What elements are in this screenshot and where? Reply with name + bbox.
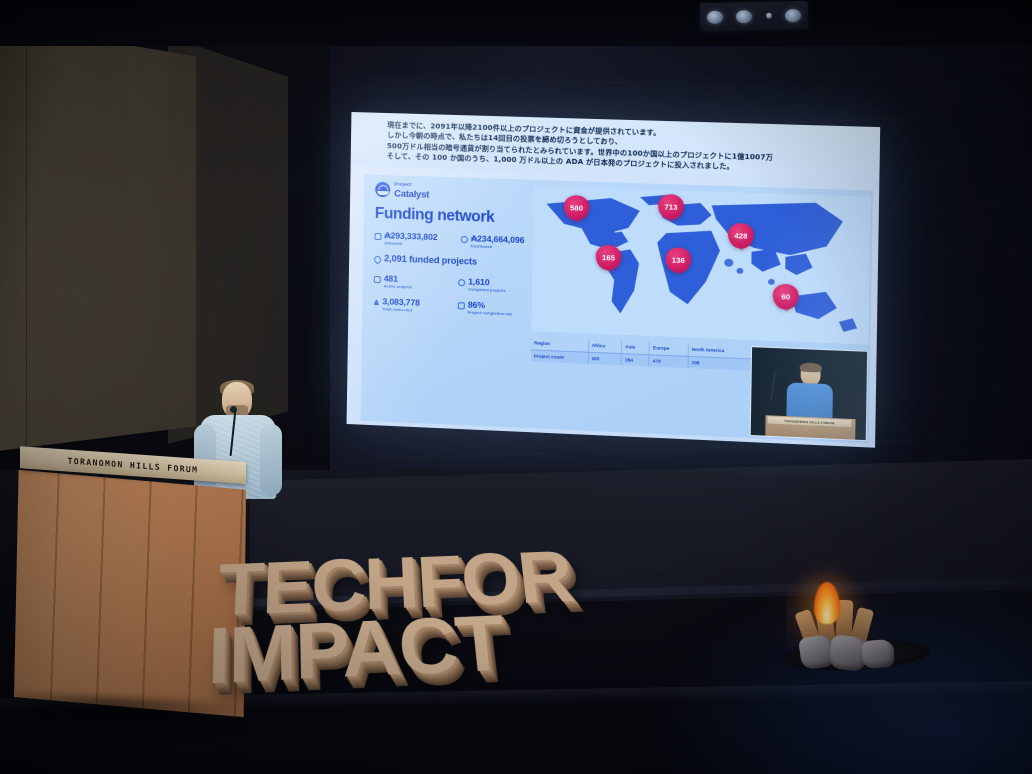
speaker-arm-right <box>260 424 282 496</box>
world-map: 580 713 428 165 136 60 <box>531 186 870 345</box>
logo-title: Catalyst <box>394 188 429 199</box>
letters-line-2: IMPACT <box>207 599 510 704</box>
ceiling-light-icon <box>736 10 752 23</box>
stats-panel: ₳293,333,802 Allocated ₳234,664,096 Dist… <box>373 231 534 318</box>
cell-asia: 284 <box>621 353 649 367</box>
flag-icon <box>374 276 381 283</box>
pip-sign-text: TORANOMON HILLS FORUM <box>784 419 834 425</box>
auditorium-scene: 現在までに、2091年以降2100件以上のプロジェクトに資金が提供されています。… <box>0 0 1032 774</box>
row-label: Project count <box>531 350 588 365</box>
cell-africa: 100 <box>588 352 622 366</box>
rock <box>861 639 895 669</box>
stat-label: Distributed <box>471 244 525 250</box>
ceiling-light-icon <box>707 10 723 23</box>
pin-icon <box>373 255 383 265</box>
cell-europe: 473 <box>649 354 688 368</box>
ceiling-light-icon <box>766 13 772 19</box>
lectern-sign-text: TORANOMON HILLS FORUM <box>68 456 199 475</box>
ceiling <box>0 0 1032 46</box>
stat-allocated: ₳293,333,802 Allocated <box>374 231 461 248</box>
techfor-impact-letters: TECHFOR IMPACT <box>203 535 567 694</box>
stat-value: 2,091 funded projects <box>384 255 477 268</box>
stat-funded-projects: 2,091 funded projects <box>374 254 477 267</box>
stat-active-projects: 481 Active projects <box>374 274 459 292</box>
stat-label: Project completion rate <box>468 311 513 317</box>
shield-icon <box>374 233 381 240</box>
speaker-video-inset: TORANOMON HILLS FORUM <box>750 346 869 441</box>
vote-icon <box>373 299 379 305</box>
stat-label: Total votes cast <box>382 308 419 314</box>
catalyst-logo-icon <box>375 182 390 198</box>
stat-completion-rate: 86% Project completion rate <box>458 300 513 317</box>
check-icon <box>458 279 465 286</box>
col-asia: Asia <box>622 341 650 355</box>
stat-label: Completed projects <box>468 287 506 293</box>
microphone-icon <box>230 406 237 413</box>
wall-panel-left <box>0 22 196 452</box>
stat-label: Active projects <box>384 284 413 289</box>
projection-screen: 現在までに、2091年以降2100件以上のプロジェクトに資金が提供されています。… <box>347 112 881 448</box>
ceiling-light-fixture <box>700 1 809 31</box>
cell-north-america: 238 <box>688 356 755 371</box>
ceiling-light-icon <box>785 9 801 22</box>
stat-total-votes: 3,083,778 Total votes cast <box>373 297 458 315</box>
campfire-prop <box>778 556 948 676</box>
stat-label: Allocated <box>384 241 437 247</box>
stat-completed-projects: 1,610 Completed projects <box>458 277 506 293</box>
pip-speaker-figure <box>786 363 833 424</box>
stat-distributed: ₳234,664,096 Distributed <box>461 234 525 251</box>
catalyst-slide: Project Catalyst Funding network ₳293,33… <box>361 174 873 443</box>
coin-icon <box>461 236 468 243</box>
rate-icon <box>458 302 465 309</box>
slide-surface: 現在までに、2091年以降2100件以上のプロジェクトに資金が提供されています。… <box>347 112 881 448</box>
